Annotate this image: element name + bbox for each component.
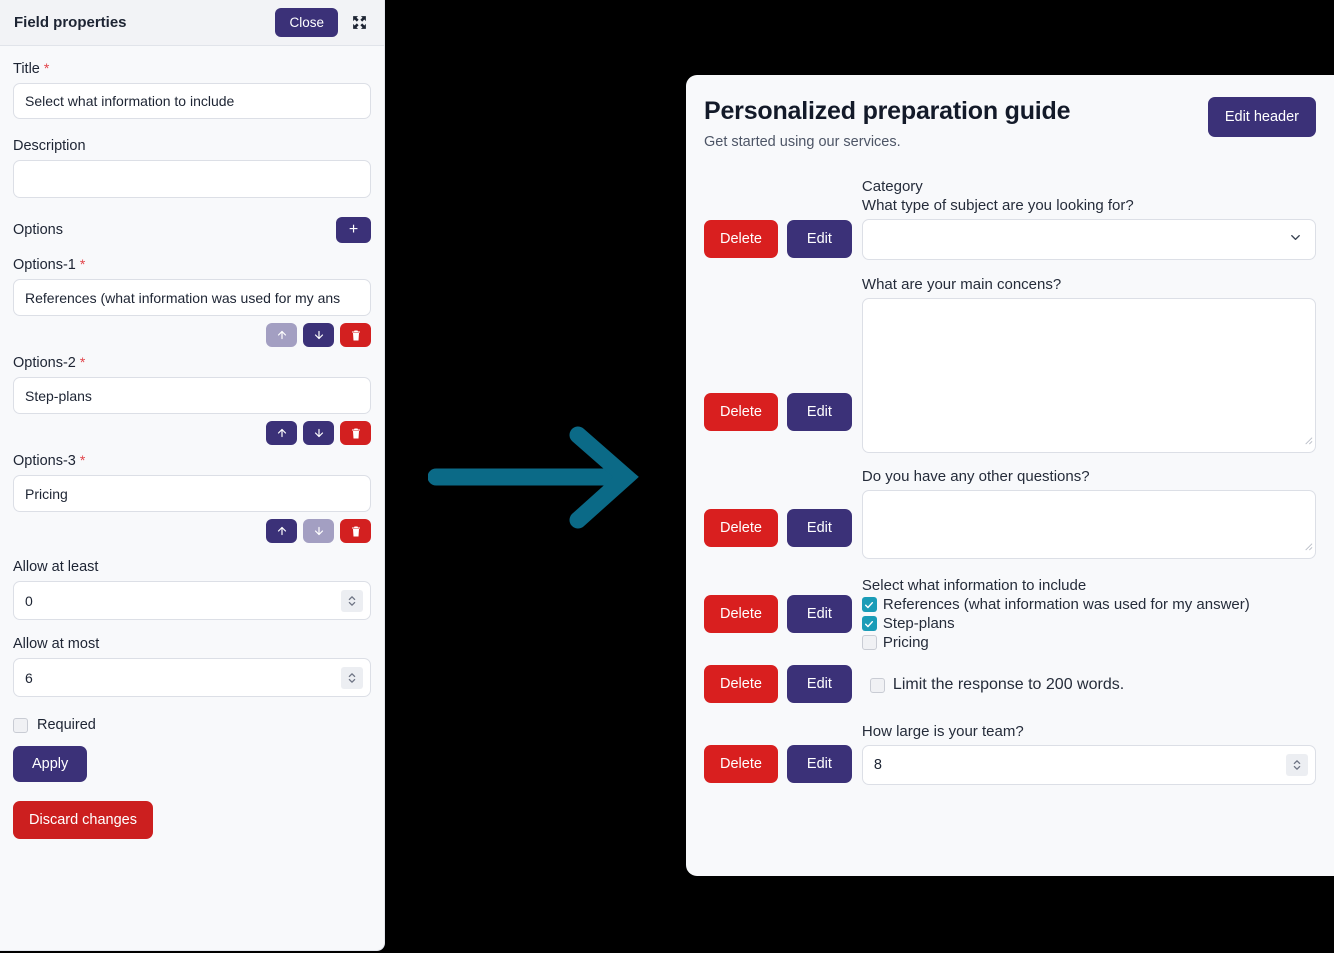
checkbox-item-references[interactable]: References (what information was used fo… xyxy=(862,596,1316,613)
limit-response-label: Limit the response to 200 words. xyxy=(893,676,1124,694)
team-size-input[interactable] xyxy=(862,745,1316,785)
required-label: Required xyxy=(37,717,96,733)
title-required-star: * xyxy=(44,60,49,76)
option-3-delete-button[interactable] xyxy=(340,519,371,543)
field-properties-body: Title * Description Options + Options-1 … xyxy=(0,60,384,839)
delete-question-6-button[interactable]: Delete xyxy=(704,745,778,783)
option-1-delete-button[interactable] xyxy=(340,323,371,347)
option-1-input[interactable] xyxy=(13,279,371,316)
question-row-category: Delete Edit Category What type of subjec… xyxy=(704,178,1316,260)
preview-title: Personalized preparation guide xyxy=(704,97,1070,126)
option-1-move-up-button[interactable] xyxy=(266,323,297,347)
question-2-field: What are your main concens? xyxy=(862,276,1316,453)
options-label: Options xyxy=(13,222,63,238)
option-2-delete-button[interactable] xyxy=(340,421,371,445)
question-3-label: Do you have any other questions? xyxy=(862,468,1316,485)
edit-question-5-button[interactable]: Edit xyxy=(787,665,852,703)
option-1-label: Options-1 * xyxy=(13,256,371,273)
option-2-input[interactable] xyxy=(13,377,371,414)
checkbox-item-step-plans[interactable]: Step-plans xyxy=(862,615,1316,632)
edit-question-3-button[interactable]: Edit xyxy=(787,509,852,547)
option-2-label-text: Options-2 xyxy=(13,355,76,371)
allow-at-least-input[interactable] xyxy=(13,581,371,620)
edit-question-1-button[interactable]: Edit xyxy=(787,220,852,258)
question-5-field: Limit the response to 200 words. xyxy=(862,676,1316,694)
option-3-label-text: Options-3 xyxy=(13,453,76,469)
title-input[interactable] xyxy=(13,83,371,119)
checkbox-label-pricing: Pricing xyxy=(883,634,929,651)
preview-header: Personalized preparation guide Get start… xyxy=(704,97,1316,150)
question-4-actions: Delete Edit xyxy=(704,595,852,651)
option-2-move-up-button[interactable] xyxy=(266,421,297,445)
checkbox-label-references: References (what information was used fo… xyxy=(883,596,1250,613)
question-1-field: Category What type of subject are you lo… xyxy=(862,178,1316,260)
options-section-header: Options + xyxy=(13,217,371,243)
panel-title: Field properties xyxy=(14,14,275,31)
main-concerns-textarea[interactable] xyxy=(862,298,1316,453)
checkbox-unchecked-icon xyxy=(870,678,885,693)
allow-at-most-label: Allow at most xyxy=(13,636,371,652)
question-6-field: How large is your team? xyxy=(862,723,1316,785)
option-1-move-down-button[interactable] xyxy=(303,323,334,347)
preview-header-text: Personalized preparation guide Get start… xyxy=(704,97,1070,150)
question-5-actions: Delete Edit xyxy=(704,665,852,705)
checkbox-checked-icon xyxy=(862,597,877,612)
question-3-actions: Delete Edit xyxy=(704,509,852,559)
limit-response-row[interactable]: Limit the response to 200 words. xyxy=(870,676,1316,694)
edit-question-6-button[interactable]: Edit xyxy=(787,745,852,783)
question-3-field: Do you have any other questions? xyxy=(862,468,1316,559)
preview-subtitle: Get started using our services. xyxy=(704,134,1070,150)
allow-at-least-stepper[interactable] xyxy=(341,590,363,612)
edit-question-4-button[interactable]: Edit xyxy=(787,595,852,633)
question-row-main-concerns: Delete Edit What are your main concens? xyxy=(704,276,1316,453)
allow-at-most-stepper[interactable] xyxy=(341,667,363,689)
question-1-sublabel: What type of subject are you looking for… xyxy=(862,197,1316,214)
option-1-required-star: * xyxy=(80,256,85,272)
question-4-label: Select what information to include xyxy=(862,577,1316,594)
question-row-team-size: Delete Edit How large is your team? xyxy=(704,723,1316,785)
title-label-text: Title xyxy=(13,61,40,77)
right-arrow-icon xyxy=(428,425,643,530)
allow-at-most-wrapper xyxy=(13,658,371,697)
allow-at-most-input[interactable] xyxy=(13,658,371,697)
question-1-label: Category xyxy=(862,178,1316,195)
allow-at-least-label: Allow at least xyxy=(13,559,371,575)
edit-header-button[interactable]: Edit header xyxy=(1208,97,1316,137)
field-properties-panel: Field properties Close Title * Descripti… xyxy=(0,0,385,951)
option-1-controls xyxy=(13,323,371,347)
option-2-required-star: * xyxy=(80,354,85,370)
information-checkbox-group: References (what information was used fo… xyxy=(862,596,1316,651)
question-2-actions: Delete Edit xyxy=(704,393,852,453)
checkbox-unchecked-icon xyxy=(862,635,877,650)
edit-question-2-button[interactable]: Edit xyxy=(787,393,852,431)
title-label: Title * xyxy=(13,60,371,77)
allow-at-least-wrapper xyxy=(13,581,371,620)
question-row-information-include: Delete Edit Select what information to i… xyxy=(704,577,1316,651)
option-3-required-star: * xyxy=(80,452,85,468)
question-6-actions: Delete Edit xyxy=(704,745,852,785)
category-select[interactable] xyxy=(862,219,1316,260)
team-size-stepper[interactable] xyxy=(1286,754,1308,776)
team-size-wrapper xyxy=(862,745,1316,785)
option-3-move-up-button[interactable] xyxy=(266,519,297,543)
form-preview-panel: Personalized preparation guide Get start… xyxy=(686,75,1334,876)
question-1-actions: Delete Edit xyxy=(704,220,852,260)
required-row: Required xyxy=(13,717,371,733)
delete-question-2-button[interactable]: Delete xyxy=(704,393,778,431)
question-4-field: Select what information to include Refer… xyxy=(862,577,1316,651)
delete-question-4-button[interactable]: Delete xyxy=(704,595,778,633)
checkbox-label-step-plans: Step-plans xyxy=(883,615,955,632)
checkbox-checked-icon xyxy=(862,616,877,631)
description-label: Description xyxy=(13,138,371,154)
delete-question-1-button[interactable]: Delete xyxy=(704,220,778,258)
question-6-label: How large is your team? xyxy=(862,723,1316,740)
required-checkbox[interactable] xyxy=(13,718,28,733)
option-3-label: Options-3 * xyxy=(13,452,371,469)
question-2-label: What are your main concens? xyxy=(862,276,1316,293)
option-2-move-down-button[interactable] xyxy=(303,421,334,445)
question-row-limit-response: Delete Edit Limit the response to 200 wo… xyxy=(704,665,1316,705)
add-option-button[interactable]: + xyxy=(336,217,371,243)
checkbox-item-pricing[interactable]: Pricing xyxy=(862,634,1316,651)
close-button[interactable]: Close xyxy=(275,8,338,37)
question-row-other-questions: Delete Edit Do you have any other questi… xyxy=(704,468,1316,559)
option-3-controls xyxy=(13,519,371,543)
apply-button[interactable]: Apply xyxy=(13,746,87,782)
option-1-label-text: Options-1 xyxy=(13,257,76,273)
option-3-move-down-button[interactable] xyxy=(303,519,334,543)
option-3-input[interactable] xyxy=(13,475,371,512)
fullscreen-expand-icon[interactable] xyxy=(350,14,368,32)
field-properties-header: Field properties Close xyxy=(0,0,384,46)
other-questions-textarea[interactable] xyxy=(862,490,1316,559)
delete-question-3-button[interactable]: Delete xyxy=(704,509,778,547)
description-input[interactable] xyxy=(13,160,371,198)
delete-question-5-button[interactable]: Delete xyxy=(704,665,778,703)
form-preview-inner: Personalized preparation guide Get start… xyxy=(686,75,1334,807)
option-2-label: Options-2 * xyxy=(13,354,371,371)
chevron-down-icon xyxy=(1288,230,1303,250)
discard-changes-button[interactable]: Discard changes xyxy=(13,801,153,839)
screen-root: Field properties Close Title * Descripti… xyxy=(0,0,1334,953)
option-2-controls xyxy=(13,421,371,445)
